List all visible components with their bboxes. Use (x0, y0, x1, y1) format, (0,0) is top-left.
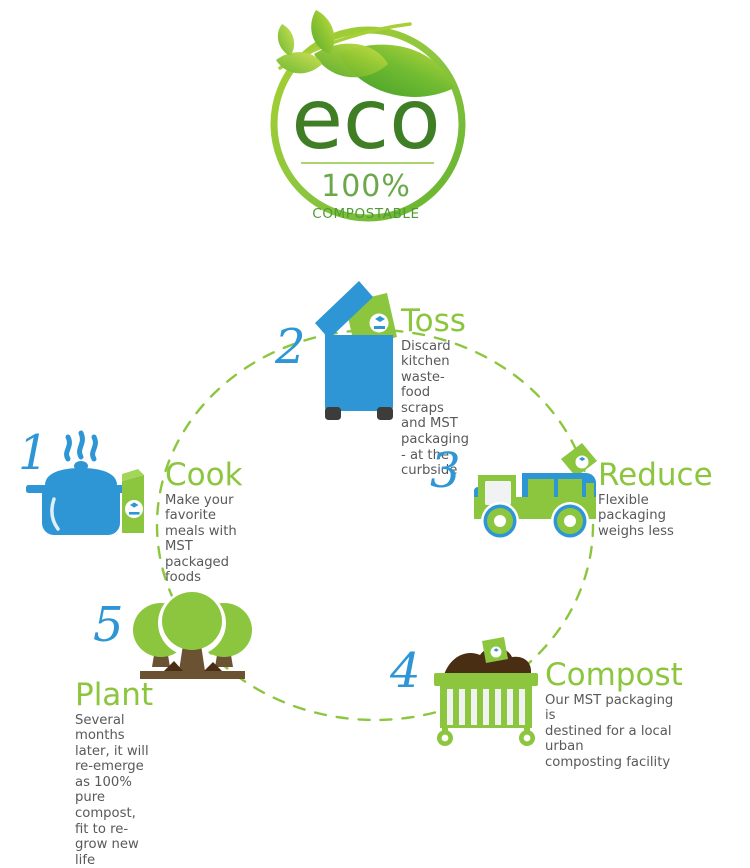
step-number-plant: 5 (93, 601, 123, 649)
garbage-truck-icon (460, 435, 610, 549)
step-desc-reduce: Flexible packaging weighs less (598, 493, 713, 540)
step-title-plant: Plant (75, 679, 153, 712)
step-text-cook: Cook Make your favorite meals with MST p… (165, 459, 243, 586)
step-number-compost: 4 (390, 647, 420, 695)
badge-caption: COMPOSTABLE (312, 206, 419, 222)
step-desc-plant: Several months later, it will re-emerge … (75, 713, 153, 868)
badge-word: eco (291, 70, 440, 168)
step-text-reduce: Reduce Flexible packaging weighs less (598, 459, 713, 539)
eco-compostable-badge: eco 100% COMPOSTABLE (258, 2, 474, 234)
step-text-compost: Compost Our MST packaging is destined fo… (545, 659, 683, 770)
trash-bin-icon (297, 275, 412, 429)
compost-bin-icon (422, 635, 547, 751)
eco-badge-graphic: eco 100% COMPOSTABLE (258, 2, 474, 234)
badge-percent: 100% (321, 169, 411, 204)
step-desc-cook: Make your favorite meals with MST packag… (165, 493, 243, 586)
step-text-plant: Plant Several months later, it will re-e… (75, 679, 153, 868)
step-number-reduce: 3 (430, 447, 460, 495)
eco-lifecycle-infographic: eco 100% COMPOSTABLE 2 (0, 0, 750, 779)
trees-icon (130, 585, 255, 689)
step-title-cook: Cook (165, 459, 243, 492)
step-desc-compost: Our MST packaging is destined for a loca… (545, 693, 683, 771)
cooking-pot-icon (18, 425, 168, 544)
step-title-toss: Toss (401, 305, 469, 338)
recycling-lifecycle-diagram: 2 Toss Disc (0, 255, 750, 779)
step-title-reduce: Reduce (598, 459, 713, 492)
step-title-compost: Compost (545, 659, 683, 692)
